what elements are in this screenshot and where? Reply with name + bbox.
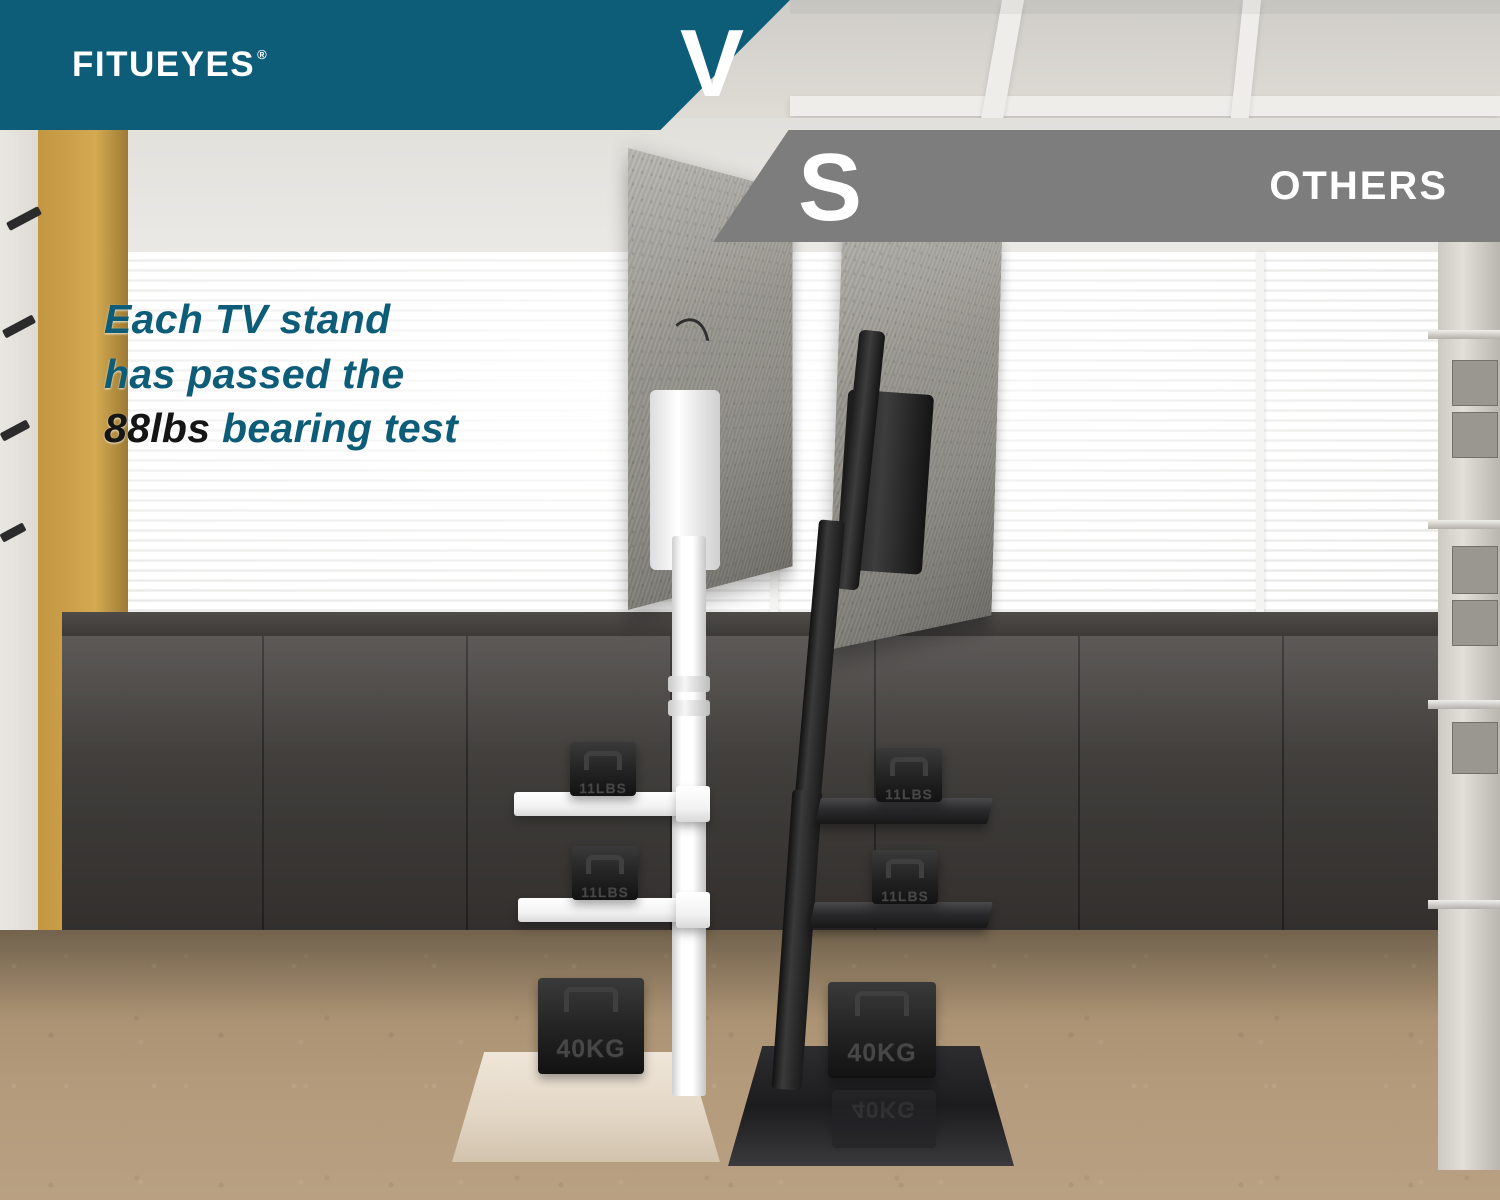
brand-logo: FITUEYES®	[72, 45, 255, 85]
brand-logo-part1: FITU	[72, 45, 156, 84]
fitueyes-shelf-bottom	[518, 898, 700, 922]
rack-shelf	[1428, 900, 1500, 909]
fitueyes-shelf-bracket-top	[676, 786, 710, 822]
weight-label: 11LBS	[579, 780, 627, 796]
headline-line-1: Each TV stand	[104, 292, 458, 347]
weight-handle	[564, 987, 618, 1012]
headline-line-3-rest: bearing test	[210, 405, 458, 451]
fitueyes-pole-joint-upper	[668, 676, 710, 692]
fitueyes-base-weight: 40KG	[538, 978, 644, 1074]
others-weight-top: 11LBS	[876, 748, 942, 802]
headline-weight-value: 88lbs	[104, 405, 210, 451]
cabinet-run	[62, 636, 1440, 936]
vs-letter-v: V	[680, 16, 744, 112]
floor-reflection	[0, 930, 1500, 1020]
others-base-weight: 40KG	[828, 982, 936, 1078]
fitueyes-pole-joint-lower	[668, 700, 710, 716]
weight-label: 40KG	[556, 1035, 625, 1064]
rack-box	[1452, 546, 1498, 594]
rack-shelf	[1428, 520, 1500, 529]
fitueyes-weight-top: 11LBS	[570, 742, 636, 796]
others-base-weight-reflection: 40KG	[832, 1090, 936, 1148]
cabinet-countertop	[62, 612, 1440, 638]
others-shelf-bottom	[809, 902, 993, 928]
fitueyes-shelf-bracket-bottom	[676, 892, 710, 928]
weight-handle	[586, 855, 624, 874]
ceiling-beam-horizontal	[790, 96, 1500, 116]
weight-label: 40KG	[852, 1096, 916, 1123]
product-comparison-image: 11LBS 11LBS 40KG	[0, 0, 1500, 1200]
rack-box	[1452, 412, 1498, 458]
weight-handle	[886, 859, 924, 878]
registered-mark: ®	[257, 47, 268, 62]
brand-banner: FITUEYES®	[0, 0, 790, 130]
cabinet-sheen	[62, 636, 1440, 936]
others-label: OTHERS	[1269, 164, 1448, 209]
rack-box	[1452, 722, 1498, 774]
headline-line-2: has passed the	[104, 347, 458, 402]
weight-label: 11LBS	[581, 884, 629, 900]
brand-logo-part2: EYES	[156, 45, 255, 84]
vs-letter-s: S	[798, 140, 862, 236]
rack-box	[1452, 360, 1498, 406]
rack-box	[1452, 600, 1498, 646]
headline-text: Each TV stand has passed the 88lbs beari…	[104, 292, 458, 456]
others-weight-bottom: 11LBS	[872, 850, 938, 904]
weight-handle	[890, 757, 928, 776]
weight-label: 11LBS	[885, 786, 933, 802]
ceiling-shadow-band	[790, 0, 1500, 14]
weight-handle	[584, 751, 622, 770]
weight-handle	[855, 991, 909, 1016]
wall-hooks	[0, 190, 52, 610]
fitueyes-weight-bottom: 11LBS	[572, 846, 638, 900]
window-mullion-right	[1256, 252, 1264, 620]
weight-label: 11LBS	[881, 888, 929, 904]
rack-shelf	[1428, 330, 1500, 339]
weight-label: 40KG	[847, 1039, 916, 1068]
rack-shelf	[1428, 700, 1500, 709]
headline-line-3: 88lbs bearing test	[104, 401, 458, 456]
